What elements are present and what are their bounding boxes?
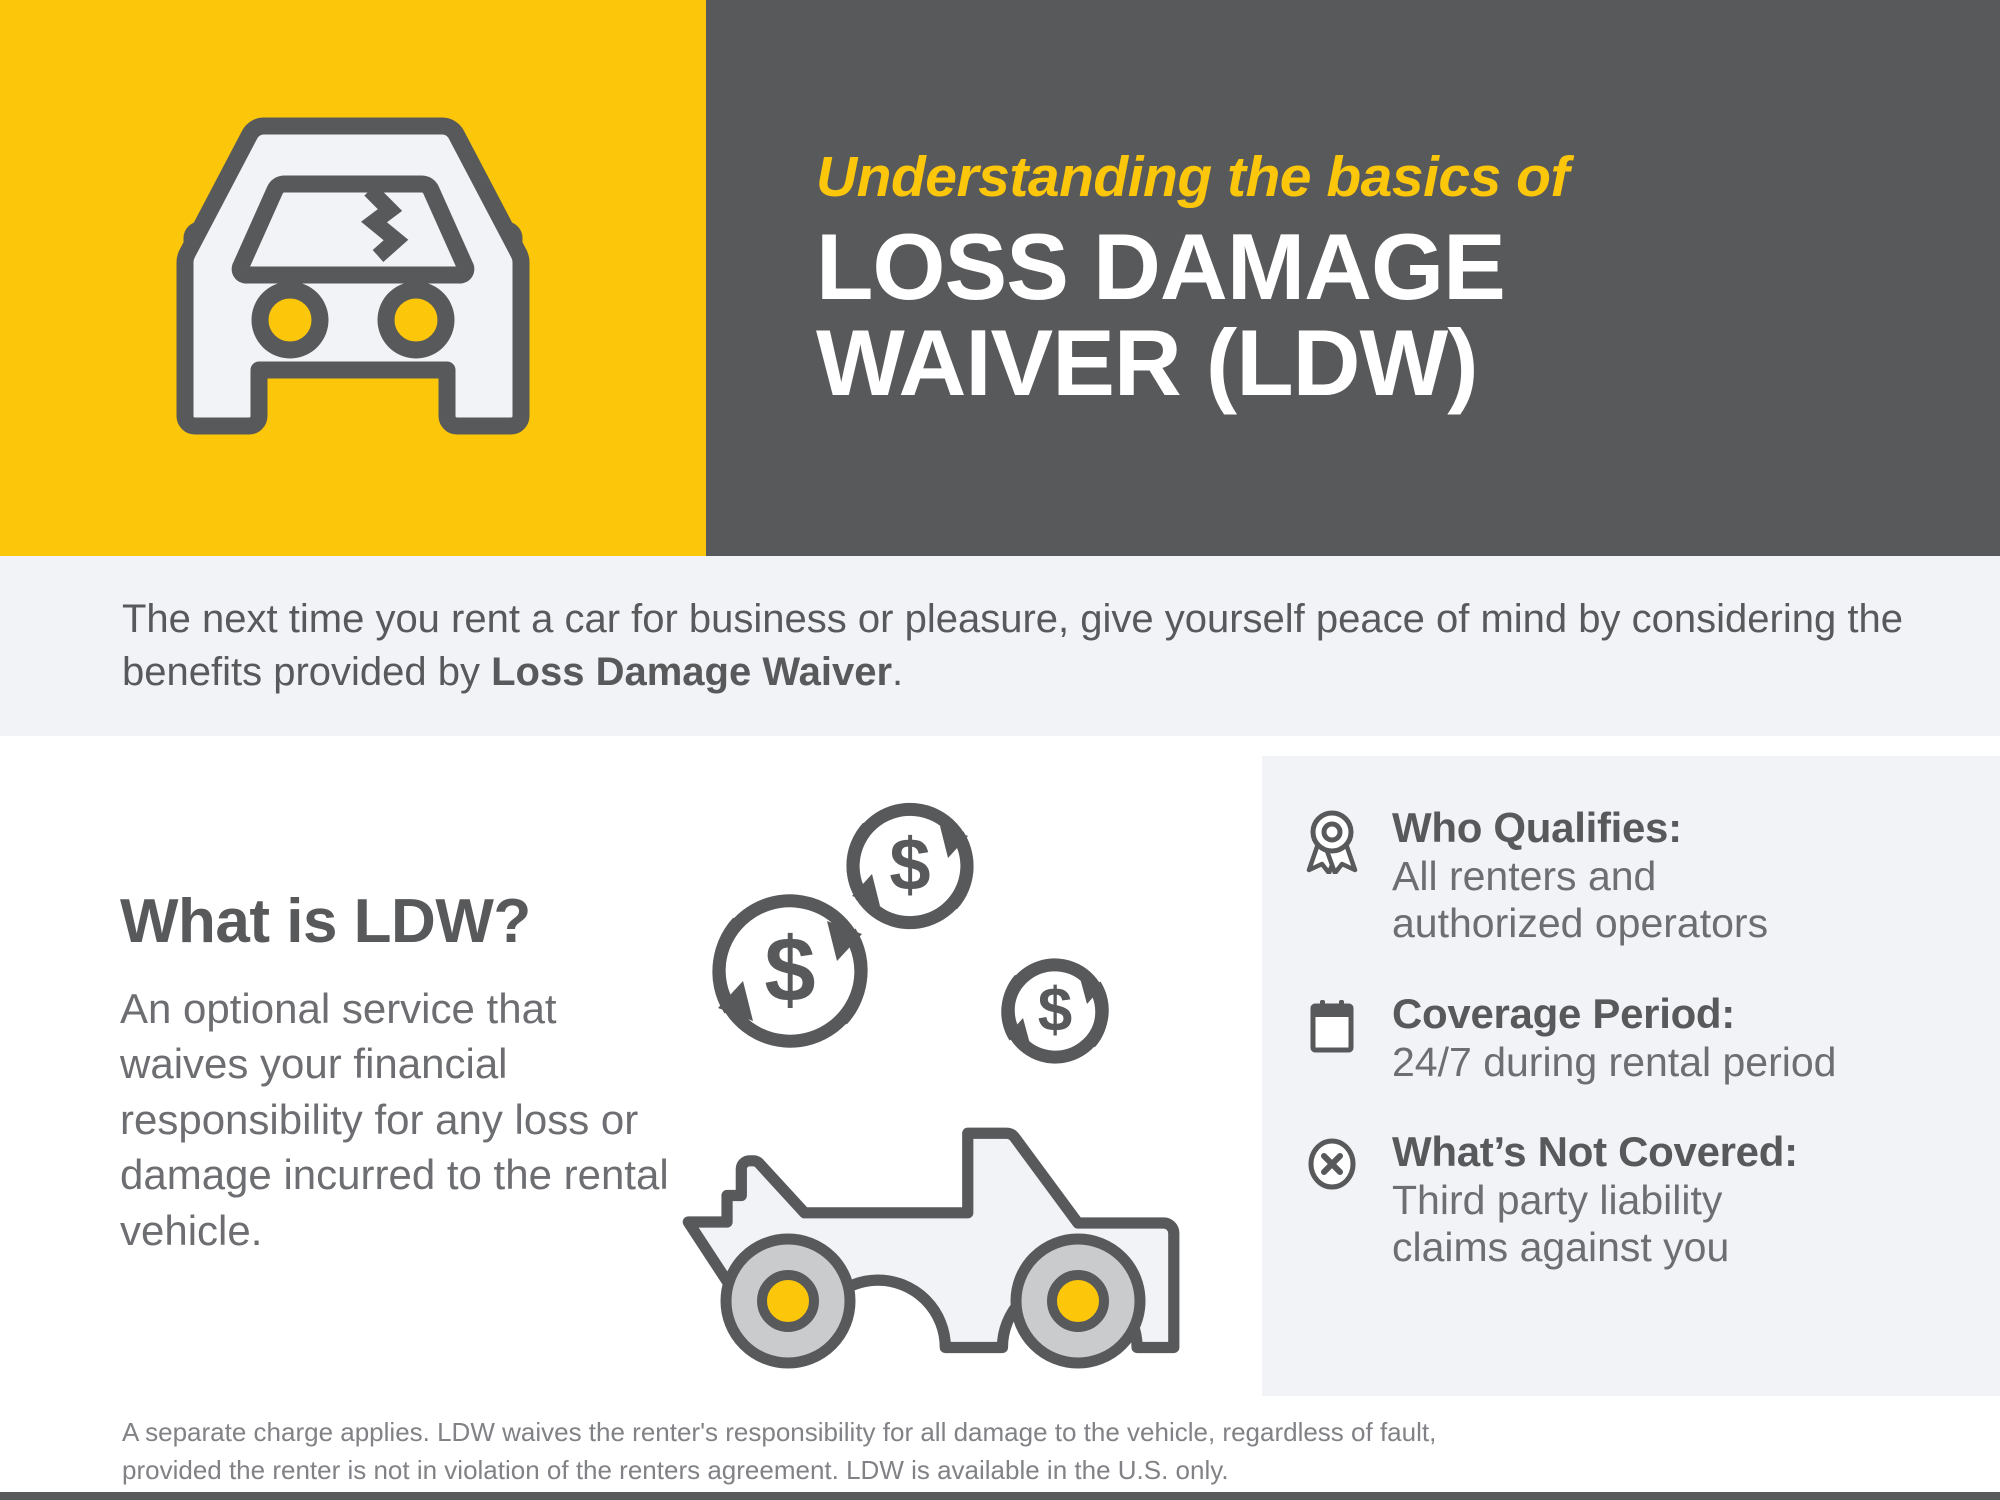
circle-x-icon (1304, 1128, 1392, 1272)
intro-bar: The next time you rent a car for busines… (0, 556, 2000, 736)
dollar-refresh-icon: $ (718, 901, 862, 1041)
header-eyebrow: Understanding the basics of (816, 145, 2000, 211)
info-item-title: Who Qualifies: (1392, 804, 1960, 853)
damaged-car-front-icon (138, 98, 568, 458)
calendar-icon (1304, 990, 1392, 1086)
dollar-refresh-icon: $ (852, 809, 968, 922)
dollar-refresh-icon: $ (1007, 965, 1103, 1057)
intro-text-after: . (892, 650, 903, 694)
info-panel: Who Qualifies: All renters and authorize… (1262, 756, 2000, 1396)
what-is-ldw-block: What is LDW? An optional service that wa… (120, 886, 680, 1258)
header: Understanding the basics of LOSS DAMAGE … (0, 0, 2000, 556)
footer-line-2: provided the renter is not in violation … (122, 1455, 1229, 1485)
svg-text:$: $ (764, 919, 815, 1021)
pickup-truck-side-icon (688, 1133, 1174, 1363)
hero-title-box: Understanding the basics of LOSS DAMAGE … (706, 0, 2000, 556)
footer-line-1: A separate charge applies. LDW waives th… (122, 1417, 1436, 1447)
info-item-title: Coverage Period: (1392, 990, 1960, 1039)
money-cycle-and-truck-illustration: $ $ $ (680, 756, 1240, 1376)
what-is-ldw-heading: What is LDW? (120, 886, 680, 957)
info-item-text: Who Qualifies: All renters and authorize… (1392, 804, 1960, 948)
headlight-right-icon (386, 290, 446, 350)
footer-disclaimer: A separate charge applies. LDW waives th… (0, 1402, 2000, 1500)
headlight-left-icon (260, 290, 320, 350)
intro-bold-phrase: Loss Damage Waiver (491, 650, 892, 694)
intro-text-before: The next time you rent a car for busines… (122, 597, 1903, 694)
info-item-detail-line-1: All renters and (1392, 853, 1960, 901)
info-item-title: What’s Not Covered: (1392, 1128, 1960, 1177)
info-item-who-qualifies: Who Qualifies: All renters and authorize… (1304, 804, 1960, 948)
main-content: What is LDW? An optional service that wa… (0, 736, 2000, 1396)
svg-text:$: $ (1038, 976, 1072, 1045)
info-item-not-covered: What’s Not Covered: Third party liabilit… (1304, 1128, 1960, 1272)
intro-paragraph: The next time you rent a car for busines… (0, 593, 2000, 699)
truck-wheel-rear (726, 1239, 850, 1363)
bottom-accent-bar (0, 1492, 2000, 1500)
infographic-page: Understanding the basics of LOSS DAMAGE … (0, 0, 2000, 1500)
page-title-line-1: LOSS DAMAGE (816, 214, 1505, 319)
info-item-detail-line-2: authorized operators (1392, 900, 1960, 948)
footer-text: A separate charge applies. LDW waives th… (0, 1402, 2000, 1489)
svg-text:$: $ (889, 823, 930, 906)
hero-icon-box (0, 0, 706, 556)
info-item-detail-line-1: Third party liability (1392, 1177, 1960, 1225)
info-item-detail-line-2: claims against you (1392, 1224, 1960, 1272)
what-is-ldw-body: An optional service that waives your fin… (120, 981, 680, 1258)
page-title: LOSS DAMAGE WAIVER (LDW) (816, 219, 2000, 411)
info-item-text: What’s Not Covered: Third party liabilit… (1392, 1128, 1960, 1272)
page-title-line-2: WAIVER (LDW) (816, 315, 2000, 411)
truck-wheel-front (1016, 1239, 1140, 1363)
award-ribbon-icon (1304, 804, 1392, 948)
info-item-text: Coverage Period: 24/7 during rental peri… (1392, 990, 1960, 1086)
info-item-coverage-period: Coverage Period: 24/7 during rental peri… (1304, 990, 1960, 1086)
info-item-detail-line-1: 24/7 during rental period (1392, 1039, 1960, 1087)
